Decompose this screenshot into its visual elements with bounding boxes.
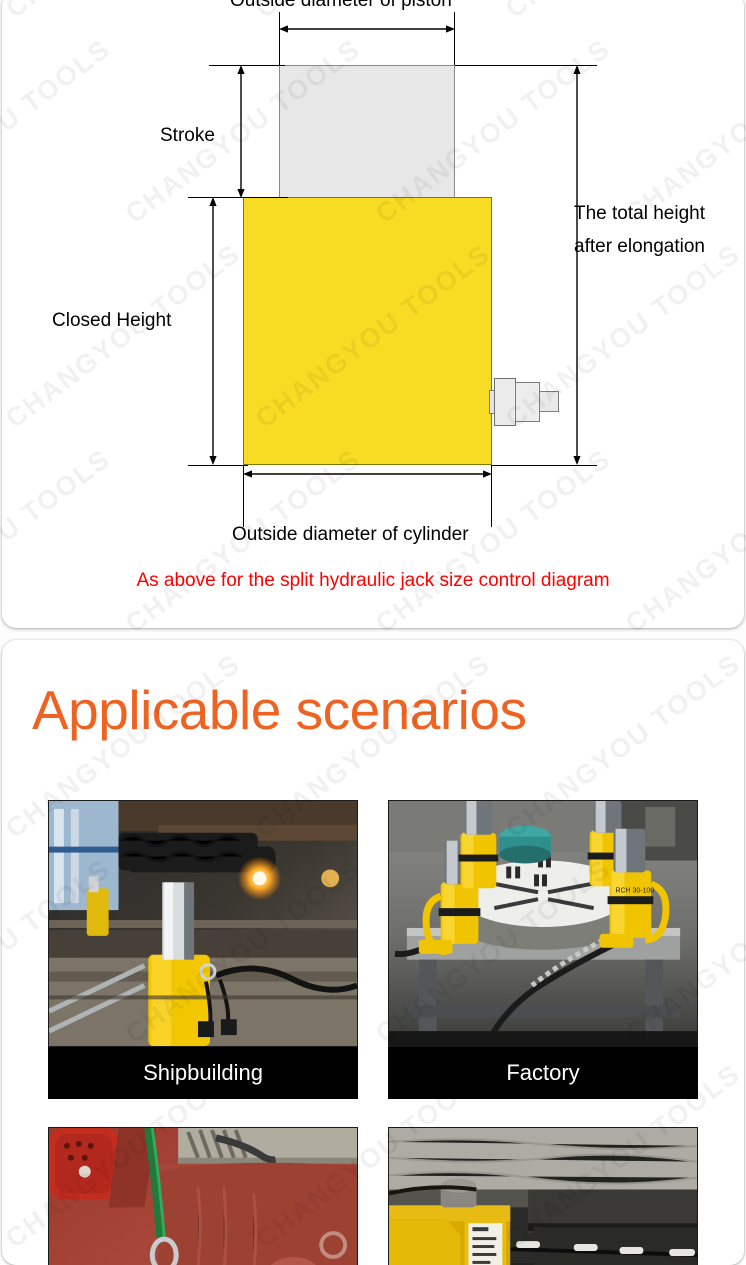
dimension-diagram-card: Outside diameter of piston [2,0,744,628]
hydraulic-jack-dimension-diagram: Outside diameter of piston [2,0,744,628]
factory-four-jacks-photo: RCH 30-100 [388,800,698,1047]
port-fitting-part-d [539,391,559,412]
red-machine-lifting-jack-photo [48,1127,358,1265]
stroke-dimension-arrow [236,65,246,198]
scenarios-section-title: Applicable scenarios [32,683,526,738]
svg-text:RCH 30-100: RCH 30-100 [616,887,655,894]
scenario-tile-shipbuilding[interactable]: Shipbuilding [48,800,358,1099]
diagram-caption: As above for the split hydraulic jack si… [2,570,744,592]
label-outside-diameter-of-cylinder: Outside diameter of cylinder [232,522,469,548]
scenario-tile-three[interactable] [48,1127,358,1265]
label-total-height-line2: after elongation [574,234,705,260]
label-outside-diameter-of-piston: Outside diameter of piston [230,0,452,14]
concrete-beam-flat-jack-photo [388,1127,698,1265]
total-height-dimension-arrow [572,65,582,465]
scenario-caption-factory: Factory [388,1047,698,1099]
piston-block-shape [279,65,455,198]
label-total-height-line1: The total height [574,201,705,227]
piston-diameter-dimension-arrow [279,24,455,34]
scenario-caption-shipbuilding: Shipbuilding [48,1047,358,1099]
scenario-tile-grid: Shipbuilding [48,800,698,1265]
port-fitting-part-b [494,378,516,426]
scenario-tile-factory[interactable]: RCH 30-100 [388,800,698,1099]
label-stroke: Stroke [160,123,215,149]
port-fitting-part-c [515,382,540,422]
cylinder-block-shape [243,197,492,465]
product-detail-page: Outside diameter of piston [0,0,746,1257]
extension-line-closed-height-bottom [188,465,248,466]
extension-line-stroke-top [209,65,285,66]
cylinder-diameter-dimension-arrow [243,469,492,479]
extension-line-total-height-bottom [492,465,597,466]
label-closed-height: Closed Height [52,308,171,334]
shipyard-jack-photo [48,800,358,1047]
witness-line-piston-left [279,12,280,67]
witness-line-piston-right [454,12,455,67]
applicable-scenarios-card: Applicable scenarios [2,640,744,1265]
scenario-tile-four[interactable] [388,1127,698,1265]
closed-height-dimension-arrow [208,197,218,465]
